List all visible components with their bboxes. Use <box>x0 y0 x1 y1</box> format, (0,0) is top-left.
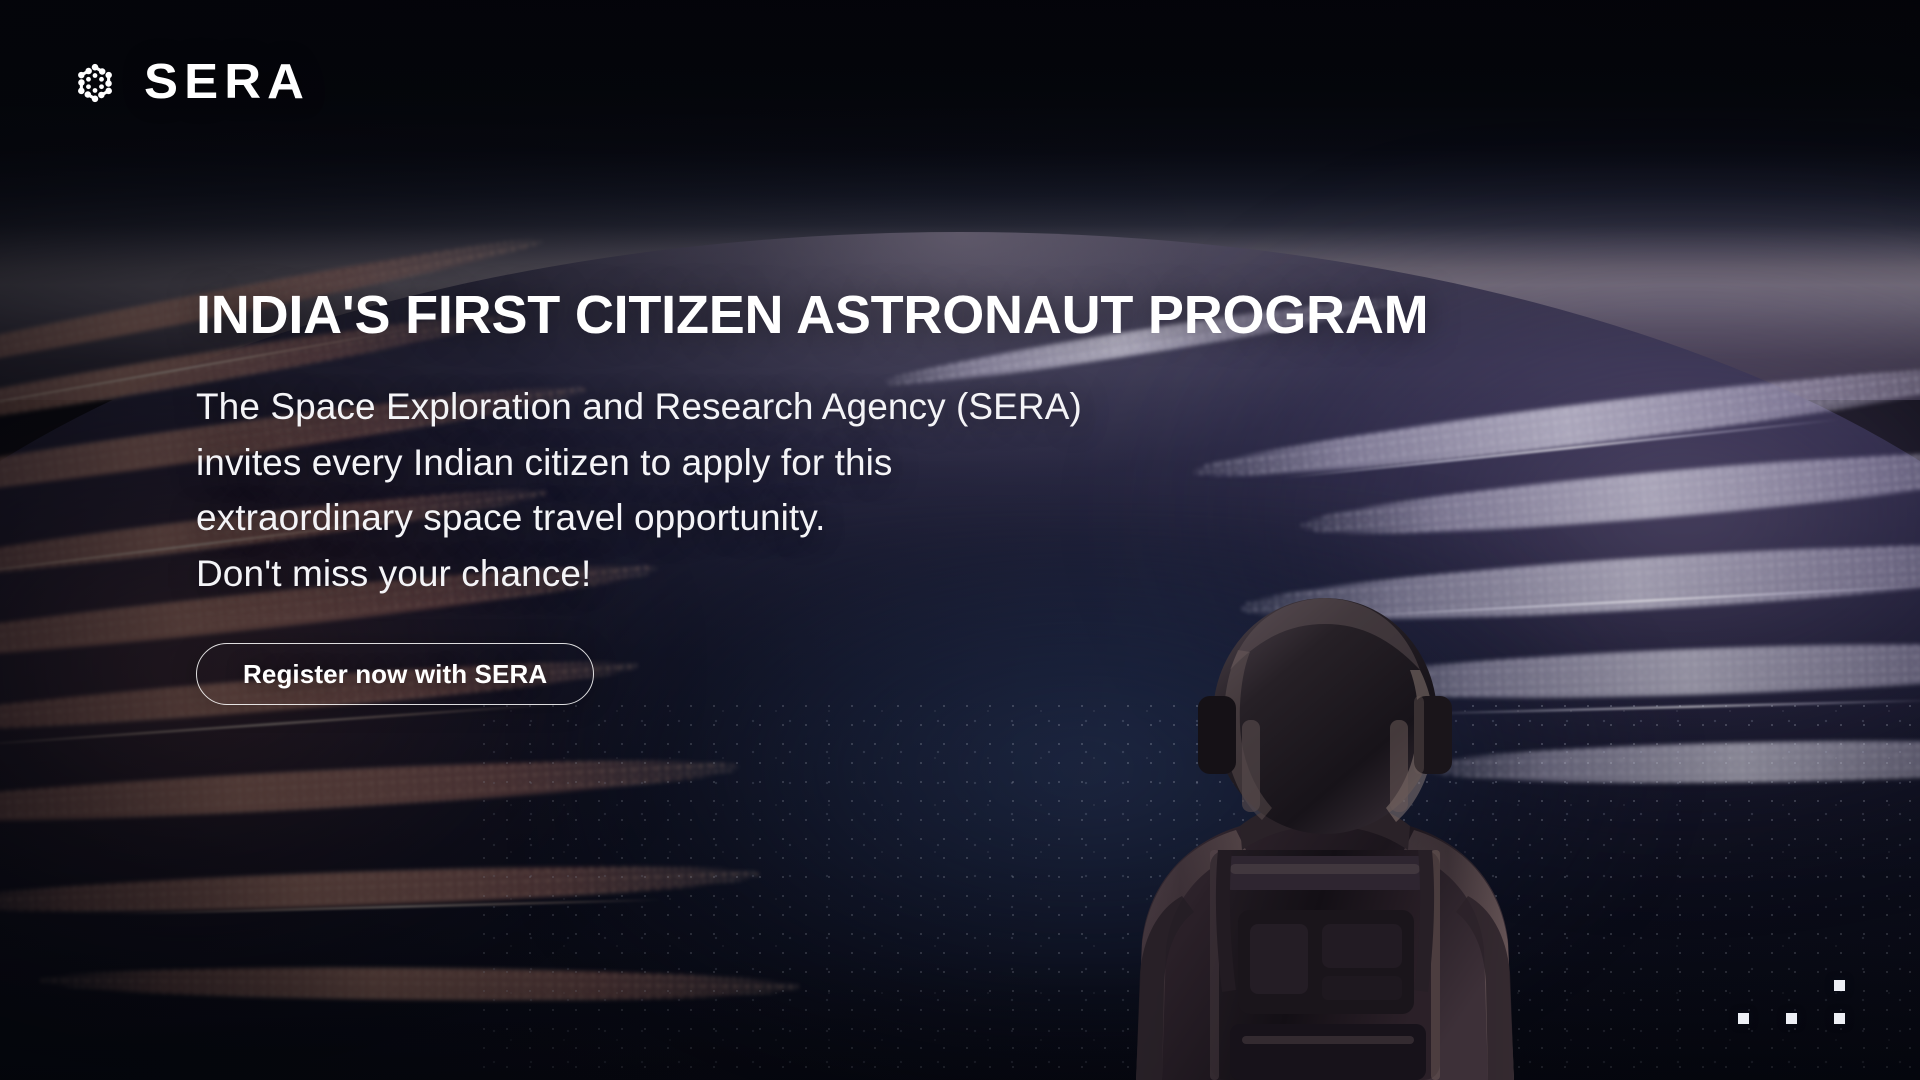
carousel-pagination[interactable] <box>1738 980 1854 1032</box>
brand-logo[interactable]: SERA <box>72 58 304 107</box>
subcopy-line: Don't miss your chance! <box>196 546 1496 602</box>
pagination-dot[interactable] <box>1834 980 1845 991</box>
subcopy-line: The Space Exploration and Research Agenc… <box>196 379 1496 435</box>
hero-subcopy: The Space Exploration and Research Agenc… <box>196 379 1496 601</box>
subcopy-line: invites every Indian citizen to apply fo… <box>196 435 1496 491</box>
hero-content: INDIA'S FIRST CITIZEN ASTRONAUT PROGRAM … <box>196 287 1496 705</box>
brand-wordmark: SERA <box>144 58 310 107</box>
pagination-dot[interactable] <box>1834 1013 1845 1024</box>
hero-section: SERA INDIA'S FIRST CITIZEN ASTRONAUT PRO… <box>0 0 1920 1080</box>
page-title: INDIA'S FIRST CITIZEN ASTRONAUT PROGRAM <box>196 287 1496 343</box>
sera-pinwheel-dots-icon <box>72 60 118 106</box>
register-button[interactable]: Register now with SERA <box>196 643 594 705</box>
subcopy-line: extraordinary space travel opportunity. <box>196 490 1496 546</box>
pagination-dot[interactable] <box>1786 1013 1797 1024</box>
pagination-dot[interactable] <box>1738 1013 1749 1024</box>
